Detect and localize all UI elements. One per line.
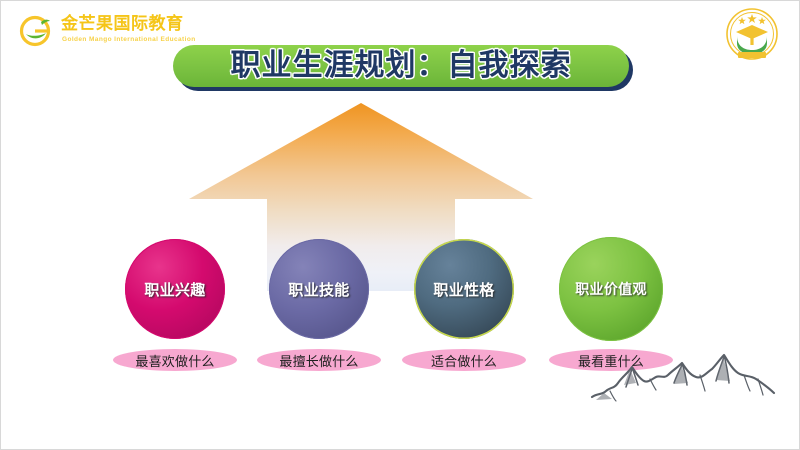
mango-circle-logo-icon (17, 15, 57, 47)
pillar-caption: 适合做什么 (402, 349, 526, 371)
page-title: 职业生涯规划：自我探索 (231, 45, 572, 87)
pillar-label: 职业技能 (288, 279, 349, 300)
pillar-bubble[interactable]: 职业价值观 (559, 237, 663, 341)
pillar-label: 职业性格 (433, 279, 494, 300)
pillar-caption-label: 适合做什么 (431, 351, 497, 370)
pillar-caption-label: 最喜欢做什么 (135, 351, 214, 370)
ink-mountain-illustration-icon (586, 353, 786, 419)
pillar-caption: 最喜欢做什么 (113, 349, 237, 371)
pillar-career-values[interactable]: 职业价值观 最看重什么 (559, 239, 663, 339)
slide-canvas: 金芒果国际教育 Golden Mango International Educa… (0, 0, 800, 450)
pillar-label: 职业价值观 (575, 279, 647, 299)
pillar-caption-label: 最擅长做什么 (279, 351, 358, 370)
brand-name-cn: 金芒果国际教育 (61, 14, 184, 34)
pillar-career-personality[interactable]: 职业性格 适合做什么 (414, 239, 514, 339)
partner-logo (723, 7, 781, 63)
pillar-label: 职业兴趣 (144, 279, 205, 300)
pillar-career-skill[interactable]: 职业技能 最擅长做什么 (269, 239, 369, 339)
pillar-career-interest[interactable]: 职业兴趣 最喜欢做什么 (125, 239, 225, 339)
pillar-bubble[interactable]: 职业兴趣 (125, 239, 225, 339)
pillar-caption: 最擅长做什么 (257, 349, 381, 371)
pillar-bubble[interactable]: 职业技能 (269, 239, 369, 339)
brand-name-en: Golden Mango International Education (62, 36, 196, 43)
graduation-cap-seal-icon (723, 50, 781, 67)
brand-logo: 金芒果国际教育 Golden Mango International Educa… (17, 11, 167, 57)
pillar-bubble[interactable]: 职业性格 (414, 239, 514, 339)
title-banner: 职业生涯规划：自我探索 (173, 45, 629, 87)
